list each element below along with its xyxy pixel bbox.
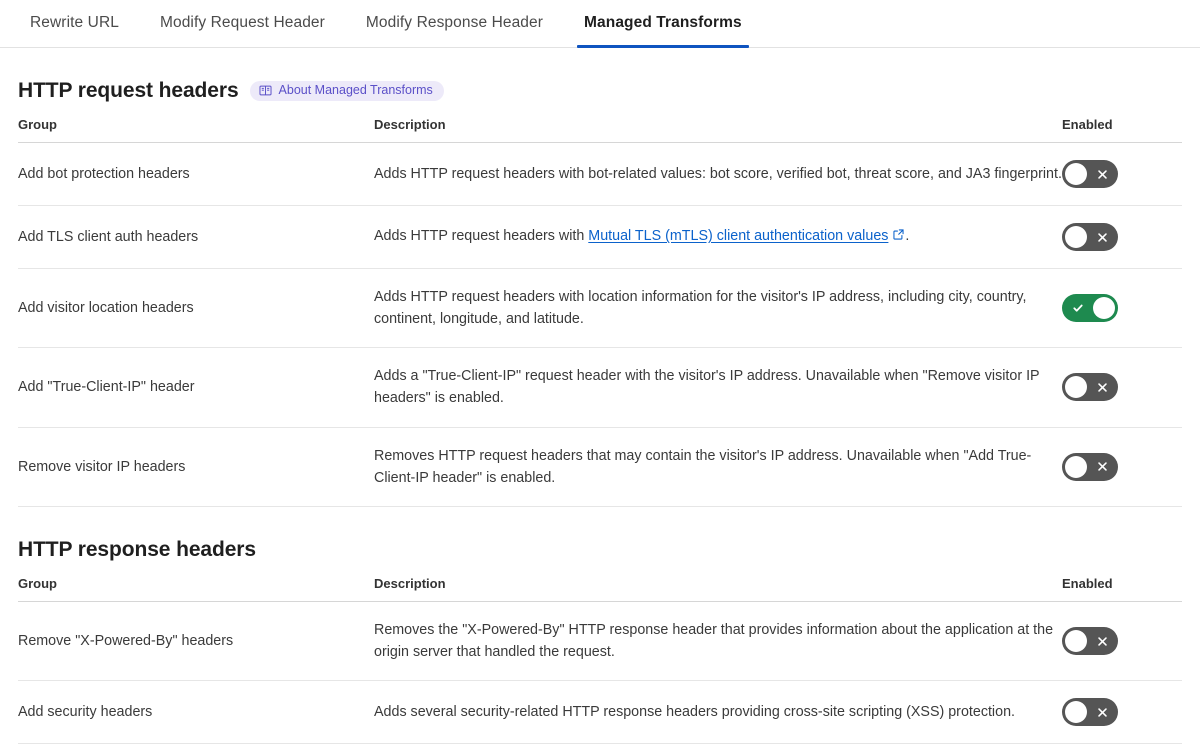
tab-managed-transforms[interactable]: Managed Transforms bbox=[584, 0, 742, 47]
about-managed-transforms-badge[interactable]: About Managed Transforms bbox=[250, 81, 444, 101]
row-group-label: Add bot protection headers bbox=[18, 143, 374, 206]
response-section-header: HTTP response headers bbox=[18, 538, 1182, 562]
row-description: Removes HTTP request headers that may co… bbox=[374, 427, 1062, 506]
transform-rules-tabbar: Rewrite URL Modify Request Header Modify… bbox=[0, 0, 1200, 48]
row-description: Adds HTTP request headers with bot-relat… bbox=[374, 143, 1062, 206]
description-text-after: . bbox=[905, 228, 909, 244]
close-icon bbox=[1088, 698, 1116, 726]
external-link-icon[interactable] bbox=[892, 226, 905, 248]
table-row: Remove "X-Powered-By" headers Removes th… bbox=[18, 601, 1182, 680]
request-section-header: HTTP request headers About Managed Trans… bbox=[18, 79, 1182, 103]
column-header-description: Description bbox=[374, 576, 1062, 602]
tab-modify-request-header[interactable]: Modify Request Header bbox=[160, 0, 325, 47]
table-row: Add security headers Adds several securi… bbox=[18, 681, 1182, 744]
toggle-remove-visitor-ip-headers[interactable] bbox=[1062, 453, 1118, 481]
check-icon bbox=[1064, 294, 1092, 322]
column-header-group: Group bbox=[18, 117, 374, 143]
row-group-label: Add security headers bbox=[18, 681, 374, 744]
column-header-enabled: Enabled bbox=[1062, 117, 1182, 143]
row-enabled-cell bbox=[1062, 206, 1182, 269]
toggle-knob bbox=[1065, 163, 1087, 185]
toggle-remove-x-powered-by-headers[interactable] bbox=[1062, 627, 1118, 655]
column-header-description: Description bbox=[374, 117, 1062, 143]
table-row: Add "True-Client-IP" header Adds a "True… bbox=[18, 348, 1182, 427]
toggle-add-security-headers[interactable] bbox=[1062, 698, 1118, 726]
table-row: Add bot protection headers Adds HTTP req… bbox=[18, 143, 1182, 206]
toggle-add-true-client-ip-header[interactable] bbox=[1062, 373, 1118, 401]
table-row: Add visitor location headers Adds HTTP r… bbox=[18, 269, 1182, 348]
row-enabled-cell bbox=[1062, 681, 1182, 744]
http-request-headers-section: HTTP request headers About Managed Trans… bbox=[0, 79, 1200, 507]
row-description: Adds several security-related HTTP respo… bbox=[374, 681, 1062, 744]
row-enabled-cell bbox=[1062, 427, 1182, 506]
close-icon bbox=[1088, 627, 1116, 655]
row-description: Removes the "X-Powered-By" HTTP response… bbox=[374, 601, 1062, 680]
row-description: Adds a "True-Client-IP" request header w… bbox=[374, 348, 1062, 427]
row-group-label: Add "True-Client-IP" header bbox=[18, 348, 374, 427]
close-icon bbox=[1088, 223, 1116, 251]
table-row: Remove visitor IP headers Removes HTTP r… bbox=[18, 427, 1182, 506]
table-header-row: Group Description Enabled bbox=[18, 117, 1182, 143]
mutual-tls-link[interactable]: Mutual TLS (mTLS) client authentication … bbox=[588, 228, 888, 244]
badge-label: About Managed Transforms bbox=[279, 84, 433, 97]
toggle-add-tls-client-auth-headers[interactable] bbox=[1062, 223, 1118, 251]
toggle-knob bbox=[1065, 701, 1087, 723]
row-group-label: Remove "X-Powered-By" headers bbox=[18, 601, 374, 680]
request-headers-table: Group Description Enabled Add bot protec… bbox=[18, 117, 1182, 507]
row-enabled-cell bbox=[1062, 143, 1182, 206]
response-headers-table: Group Description Enabled Remove "X-Powe… bbox=[18, 576, 1182, 744]
toggle-knob bbox=[1065, 630, 1087, 652]
column-header-group: Group bbox=[18, 576, 374, 602]
row-description: Adds HTTP request headers with Mutual TL… bbox=[374, 206, 1062, 269]
close-icon bbox=[1088, 453, 1116, 481]
toggle-knob bbox=[1093, 297, 1115, 319]
toggle-knob bbox=[1065, 376, 1087, 398]
tab-rewrite-url[interactable]: Rewrite URL bbox=[30, 0, 119, 47]
row-group-label: Add visitor location headers bbox=[18, 269, 374, 348]
row-enabled-cell bbox=[1062, 348, 1182, 427]
table-row: Add TLS client auth headers Adds HTTP re… bbox=[18, 206, 1182, 269]
row-group-label: Add TLS client auth headers bbox=[18, 206, 374, 269]
toggle-knob bbox=[1065, 456, 1087, 478]
page-title-request: HTTP request headers bbox=[18, 79, 239, 103]
page-title-response: HTTP response headers bbox=[18, 538, 256, 562]
column-header-enabled: Enabled bbox=[1062, 576, 1182, 602]
close-icon bbox=[1088, 160, 1116, 188]
row-enabled-cell bbox=[1062, 269, 1182, 348]
toggle-knob bbox=[1065, 226, 1087, 248]
row-enabled-cell bbox=[1062, 601, 1182, 680]
toggle-add-visitor-location-headers[interactable] bbox=[1062, 294, 1118, 322]
close-icon bbox=[1088, 373, 1116, 401]
table-header-row: Group Description Enabled bbox=[18, 576, 1182, 602]
row-group-label: Remove visitor IP headers bbox=[18, 427, 374, 506]
row-description: Adds HTTP request headers with location … bbox=[374, 269, 1062, 348]
tab-modify-response-header[interactable]: Modify Response Header bbox=[366, 0, 543, 47]
http-response-headers-section: HTTP response headers Group Description … bbox=[0, 538, 1200, 744]
book-icon bbox=[259, 84, 272, 97]
toggle-add-bot-protection-headers[interactable] bbox=[1062, 160, 1118, 188]
description-text-before: Adds HTTP request headers with bbox=[374, 228, 588, 244]
